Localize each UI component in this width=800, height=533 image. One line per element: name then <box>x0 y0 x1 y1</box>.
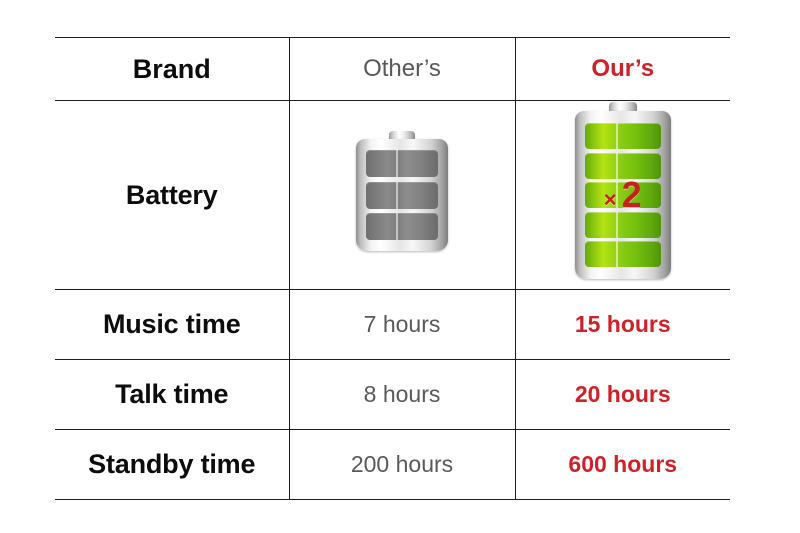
header-label-others: Other’s <box>363 55 441 82</box>
table-row-battery: Battery <box>55 101 730 290</box>
value-cell-other-talk-time: 8 hours <box>289 360 515 430</box>
table-row-standby-time: Standby time 200 hours 600 hours <box>55 430 730 500</box>
header-cell-feature: Brand <box>55 38 289 101</box>
battery-cell-our: × 2 <box>515 101 730 290</box>
battery-segment <box>585 241 661 267</box>
battery-segment <box>366 182 438 209</box>
multiplier-value: 2 <box>622 177 642 213</box>
header-label-ours: Our’s <box>591 55 654 82</box>
battery-comparison-table: Brand Other’s Our’s Battery <box>55 37 730 500</box>
row-label-cell-standby-time: Standby time <box>55 430 289 500</box>
battery-segment <box>585 212 661 238</box>
row-label-cell-talk-time: Talk time <box>55 360 289 430</box>
value-cell-our-talk-time: 20 hours <box>515 360 730 430</box>
value-other-standby-time: 200 hours <box>351 451 453 477</box>
value-cell-other-standby-time: 200 hours <box>289 430 515 500</box>
row-label-battery: Battery <box>126 180 218 210</box>
multiply-symbol: × <box>604 189 617 211</box>
header-cell-other: Other’s <box>289 38 515 101</box>
row-label-music-time: Music time <box>103 309 241 339</box>
row-label-cell-battery: Battery <box>55 101 289 290</box>
comparison-page: Brand Other’s Our’s Battery <box>0 0 800 533</box>
battery-multiplier-badge: × 2 <box>604 177 642 213</box>
row-label-talk-time: Talk time <box>115 379 228 409</box>
battery-segment <box>366 150 438 177</box>
battery-green-icon: × 2 <box>575 111 671 279</box>
value-our-talk-time: 20 hours <box>575 381 671 407</box>
value-our-standby-time: 600 hours <box>568 451 677 477</box>
row-label-cell-music-time: Music time <box>55 290 289 360</box>
battery-segment <box>366 213 438 240</box>
value-our-music-time: 15 hours <box>575 311 671 337</box>
value-other-music-time: 7 hours <box>364 311 441 337</box>
battery-cell-other <box>289 101 515 290</box>
table-row-talk-time: Talk time 8 hours 20 hours <box>55 360 730 430</box>
value-cell-our-standby-time: 600 hours <box>515 430 730 500</box>
table-row-music-time: Music time 7 hours 15 hours <box>55 290 730 360</box>
header-cell-our: Our’s <box>515 38 730 101</box>
row-label-standby-time: Standby time <box>88 449 255 479</box>
header-label-brand: Brand <box>133 54 211 84</box>
value-other-talk-time: 8 hours <box>364 381 441 407</box>
battery-segment <box>585 123 661 149</box>
value-cell-our-music-time: 15 hours <box>515 290 730 360</box>
table-header-row: Brand Other’s Our’s <box>55 38 730 101</box>
battery-gray-icon <box>356 139 448 251</box>
battery-segments-gray <box>366 150 438 240</box>
value-cell-other-music-time: 7 hours <box>289 290 515 360</box>
